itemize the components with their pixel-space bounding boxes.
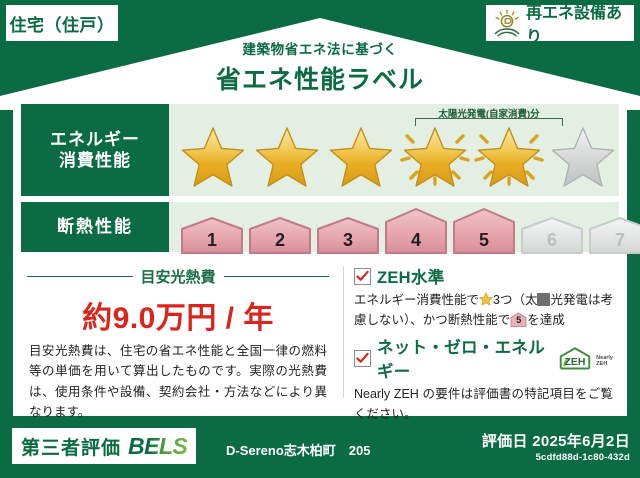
zeh-standard-heading: ZEH水準 bbox=[354, 264, 613, 288]
inline-house-badge: 5 bbox=[510, 312, 527, 327]
insulation-label-text: 断熱性能 bbox=[57, 216, 133, 237]
insulation-performance-row: 断熱性能 1234567 bbox=[21, 202, 619, 252]
net-zero-block: ネット・ゼロ・エネルギー ZEH Nearly ZEH bbox=[354, 334, 613, 424]
evaluation-id: 5cdfd88d-1c80-432d bbox=[482, 452, 630, 463]
redacted-character bbox=[537, 293, 550, 306]
insulation-level-number: 4 bbox=[383, 230, 449, 251]
zeh-logo-subtext: Nearly ZEH bbox=[596, 356, 613, 370]
net-zero-text: Nearly ZEH の要件は評価書の特記項目をご覧ください。 bbox=[354, 384, 613, 424]
heading-rule-left bbox=[27, 276, 133, 278]
label-title-block: 建築物省エネ法に基づく 省エネ性能ラベル bbox=[0, 38, 640, 96]
check-icon bbox=[356, 270, 369, 283]
star-filled bbox=[177, 120, 249, 188]
svg-text:ZEH: ZEH bbox=[565, 356, 586, 368]
zeh-logo-sub-line2: ZEH bbox=[596, 361, 607, 367]
zeh-house-logo-icon: ZEH bbox=[556, 346, 594, 370]
sun-solar-icon bbox=[492, 8, 522, 38]
label-card: エネルギー 消費性能 太陽光発電(自家消費)分 断熱性能 1234567 bbox=[13, 96, 627, 416]
star-shape bbox=[257, 128, 318, 186]
zeh-text-part3: を達成 bbox=[527, 313, 565, 327]
utility-cost-heading: 目安光熱費 bbox=[27, 266, 329, 287]
zeh-logo: ZEH Nearly ZEH bbox=[556, 346, 613, 370]
utility-cost-description: 目安光熱費は、住宅の省エネ性能と全国一律の燃料等の単価を用いて算出したものです。… bbox=[27, 341, 329, 422]
bels-energy-label: 住宅（住戸） 再エネ設備あり 建築物省エネ法に基づく 省エネ性能ラベル bbox=[0, 0, 640, 478]
zeh-standard-title: ZEH水準 bbox=[377, 264, 445, 288]
bels-badge: 第三者評価 BELS bbox=[12, 428, 196, 464]
star-filled bbox=[251, 120, 323, 188]
energy-label-line1: エネルギー bbox=[50, 129, 140, 150]
utility-cost-value: 約9.0万円 / 年 bbox=[27, 293, 329, 337]
lower-section: 目安光熱費 約9.0万円 / 年 目安光熱費は、住宅の省エネ性能と全国一律の燃料… bbox=[21, 260, 619, 408]
insulation-level-number: 1 bbox=[179, 230, 245, 251]
evaluation-date: 評価日 2025年6月2日 bbox=[482, 430, 630, 451]
inline-house-level: 5 bbox=[510, 313, 527, 327]
insulation-level-6: 6 bbox=[519, 212, 585, 256]
net-zero-heading: ネット・ゼロ・エネルギー ZEH Nearly ZEH bbox=[354, 334, 613, 382]
housing-type-badge: 住宅（住戸） bbox=[6, 5, 118, 41]
insulation-level-number: 3 bbox=[315, 230, 381, 251]
insulation-level-1: 1 bbox=[179, 212, 245, 256]
heading-rule-right bbox=[224, 276, 330, 278]
net-zero-checkbox[interactable] bbox=[354, 350, 371, 367]
column-divider bbox=[343, 266, 344, 398]
inline-star-icon bbox=[479, 292, 493, 306]
star-filled bbox=[399, 120, 471, 188]
star-rating bbox=[177, 120, 619, 188]
zeh-panel: ZEH水準 エネルギー消費性能で3つ（太光発電は考慮しない）、かつ断熱性能で5を… bbox=[350, 260, 619, 408]
insulation-level-number: 7 bbox=[587, 230, 640, 251]
renewable-equipment-badge: 再エネ設備あり bbox=[486, 5, 634, 41]
insulation-level-4: 4 bbox=[383, 206, 449, 256]
net-zero-title: ネット・ゼロ・エネルギー bbox=[377, 334, 550, 382]
utility-cost-panel: 目安光熱費 約9.0万円 / 年 目安光熱費は、住宅の省エネ性能と全国一律の燃料… bbox=[21, 260, 337, 408]
bels-logo-text: BELS bbox=[128, 433, 187, 460]
star-filled bbox=[325, 120, 397, 188]
zeh-standard-checkbox[interactable] bbox=[354, 268, 371, 285]
star-shape bbox=[331, 128, 392, 186]
check-icon bbox=[356, 352, 369, 365]
insulation-level-7: 7 bbox=[587, 212, 640, 256]
utility-cost-heading-text: 目安光熱費 bbox=[141, 266, 216, 287]
footer: 第三者評価 BELS D-Sereno志木柏町 205 評価日 2025年6月2… bbox=[0, 422, 640, 478]
zeh-standard-text: エネルギー消費性能で3つ（太光発電は考慮しない）、かつ断熱性能で5を達成 bbox=[354, 290, 613, 330]
insulation-level-number: 5 bbox=[451, 230, 517, 251]
insulation-level-3: 3 bbox=[315, 212, 381, 256]
zeh-star-count-text: 3つ（太 bbox=[493, 293, 537, 307]
page-title: 省エネ性能ラベル bbox=[0, 60, 640, 96]
energy-performance-row: エネルギー 消費性能 太陽光発電(自家消費)分 bbox=[21, 104, 619, 196]
zeh-standard-block: ZEH水準 エネルギー消費性能で3つ（太光発電は考慮しない）、かつ断熱性能で5を… bbox=[354, 264, 613, 330]
property-name: D-Sereno志木柏町 205 bbox=[226, 440, 370, 459]
star-filled bbox=[473, 120, 545, 188]
insulation-level-badges: 1234567 bbox=[179, 206, 640, 256]
insulation-level-number: 2 bbox=[247, 230, 313, 251]
bels-japanese-label: 第三者評価 bbox=[21, 433, 121, 460]
energy-performance-label: エネルギー 消費性能 bbox=[21, 104, 169, 196]
star-empty bbox=[547, 120, 619, 188]
insulation-level-2: 2 bbox=[247, 212, 313, 256]
insulation-level-number: 6 bbox=[519, 230, 585, 251]
insulation-rating-area: 1234567 bbox=[169, 202, 619, 252]
title-subtitle: 建築物省エネ法に基づく bbox=[0, 38, 640, 58]
housing-type-label: 住宅（住戸） bbox=[10, 11, 115, 36]
energy-label-line2: 消費性能 bbox=[59, 150, 131, 171]
insulation-level-5: 5 bbox=[451, 206, 517, 256]
insulation-performance-label: 断熱性能 bbox=[21, 202, 169, 252]
zeh-text-part1: エネルギー消費性能で bbox=[354, 293, 479, 307]
energy-rating-area: 太陽光発電(自家消費)分 bbox=[169, 104, 619, 196]
star-shape bbox=[553, 128, 614, 186]
evaluation-info: 評価日 2025年6月2日 5cdfd88d-1c80-432d bbox=[482, 430, 630, 463]
star-shape bbox=[183, 128, 244, 186]
